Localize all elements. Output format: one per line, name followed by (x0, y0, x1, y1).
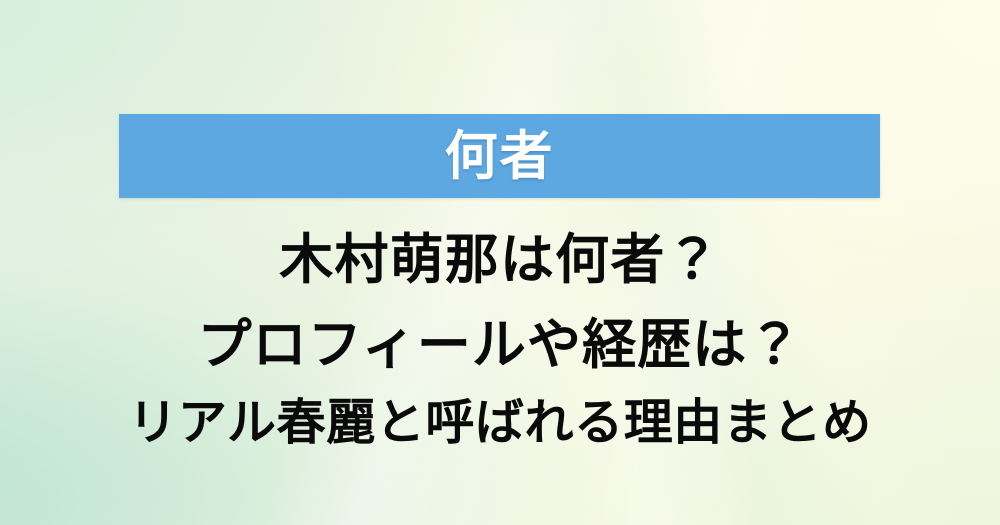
category-banner-label: 何者 (445, 130, 555, 183)
headline-line-3: リアル春麗と呼ばれる理由まとめ (0, 398, 1000, 447)
thumbnail-canvas: 何者 木村萌那は何者？ プロフィールや経歴は？ リアル春麗と呼ばれる理由まとめ (0, 0, 1000, 525)
headline-line-1: 木村萌那は何者？ (0, 233, 1000, 287)
headline-line-2: プロフィールや経歴は？ (0, 318, 1000, 372)
category-banner: 何者 (119, 114, 880, 198)
